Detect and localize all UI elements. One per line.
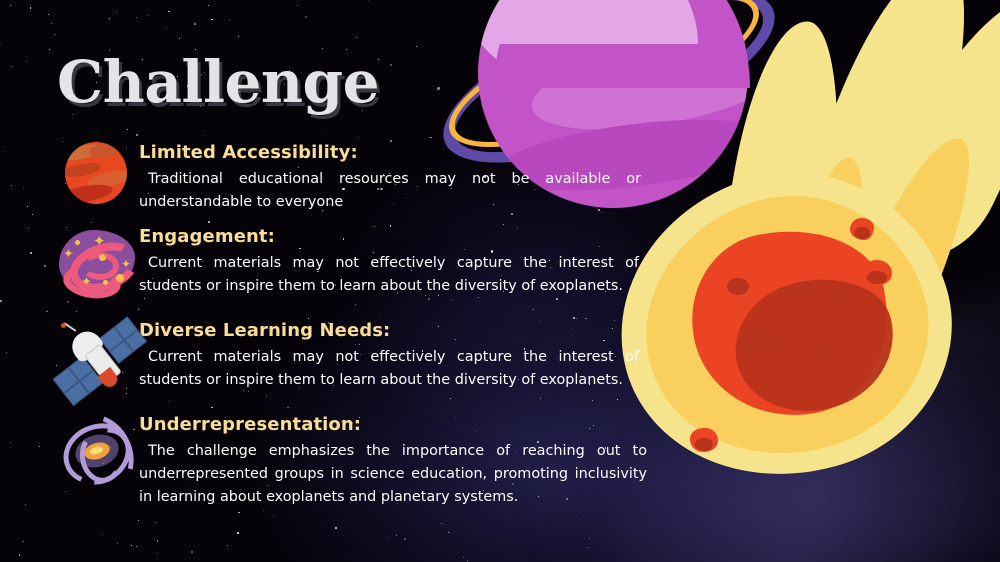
mars-planet-icon [57,142,139,212]
page-title: Challenge [57,48,379,116]
bullet-heading: Limited Accessibility: [139,142,647,165]
spiral-galaxy-icon [57,418,139,500]
bullet-heading: Diverse Learning Needs: [139,320,647,343]
meteor-fragment-1 [850,218,874,240]
meteor-fragment-2 [862,260,892,285]
bullet-text: Engagement: Current materials may not ef… [139,224,647,298]
satellite-icon [57,320,139,402]
meteor-crater-2 [813,340,837,358]
bullet-text: Diverse Learning Needs: Current material… [139,318,647,392]
bullet-item-diverse-learning-needs: Diverse Learning Needs: Current material… [57,318,647,402]
bullet-item-engagement: ✦ ✦ ✦ ✦ Engagement: Current materials ma… [57,224,647,308]
bullet-body: Traditional educational resources may no… [139,168,641,215]
nebula-icon: ✦ ✦ ✦ ✦ [57,226,139,308]
meteor-crater-4 [835,290,855,306]
bullet-item-limited-accessibility: Limited Accessibility: Traditional educa… [57,140,647,214]
sparkle-icon: ✦ [93,234,106,249]
comet-illustration [585,0,1000,520]
meteor-crater-5 [727,278,749,295]
satellite-antenna-tip [61,323,66,328]
satellite-shape [57,320,139,402]
sparkle-icon: ✦ [81,276,92,289]
bullet-item-underrepresentation: Underrepresentation: The challenge empha… [57,412,647,509]
bullet-text: Underrepresentation: The challenge empha… [139,412,647,509]
bullet-heading: Engagement: [139,226,647,249]
slide-canvas: Challenge Limited Accessibility: Traditi… [0,0,1000,562]
meteor-fragment-3 [690,428,718,452]
mars-planet-body [65,142,127,204]
nebula-shape: ✦ ✦ ✦ ✦ [59,230,135,296]
bullet-body: Current materials may not effectively ca… [139,346,639,393]
bullet-list: Limited Accessibility: Traditional educa… [57,140,647,520]
sparkle-icon: ✦ [121,258,131,270]
bullet-body: Current materials may not effectively ca… [139,252,639,299]
bullet-text: Limited Accessibility: Traditional educa… [139,140,647,214]
bullet-body: The challenge emphasizes the importance … [139,440,647,510]
sparkle-icon: ✦ [63,248,74,261]
bullet-heading: Underrepresentation: [139,414,647,437]
spiral-galaxy-shape [57,418,137,488]
